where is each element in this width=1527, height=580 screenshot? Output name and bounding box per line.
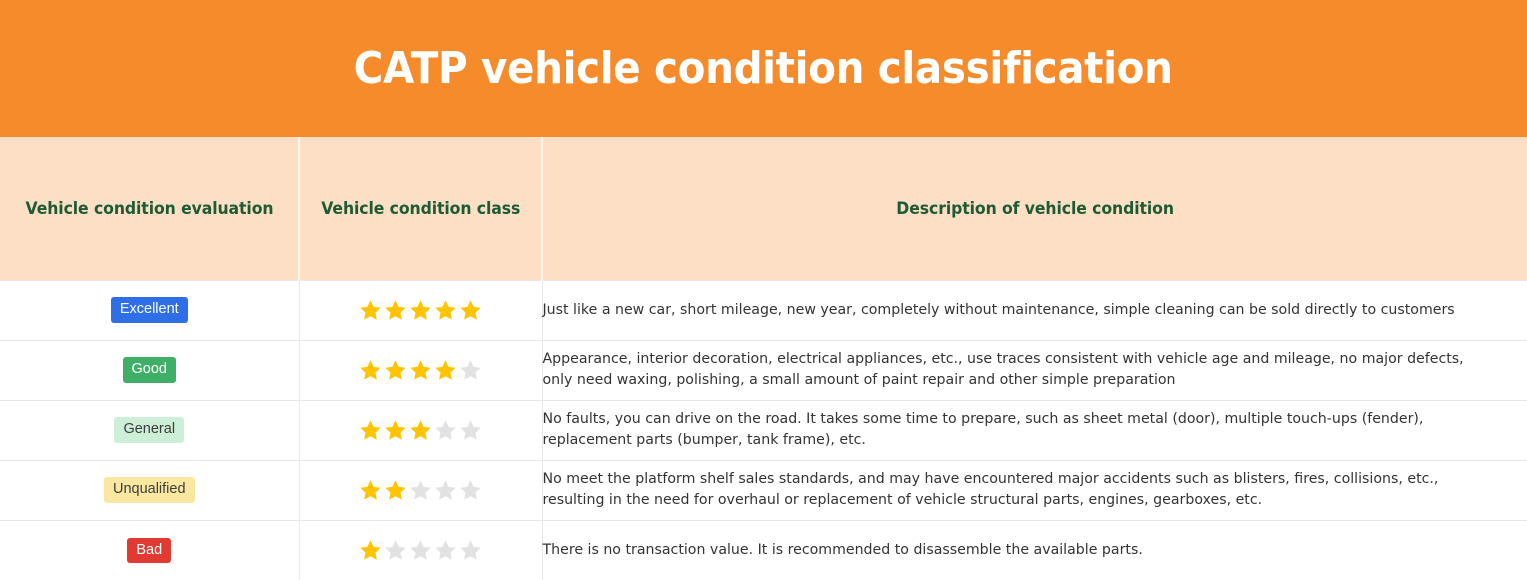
star-rating: [358, 418, 483, 443]
vehicle-condition-table: Vehicle condition evaluation Vehicle con…: [0, 137, 1527, 580]
star-filled-icon: [358, 298, 383, 323]
cell-description: Appearance, interior decoration, electri…: [542, 340, 1497, 400]
cell-condition-class: [299, 460, 542, 520]
star-empty-icon: [408, 478, 433, 503]
star-empty-icon: [433, 478, 458, 503]
star-empty-icon: [458, 358, 483, 383]
star-filled-icon: [433, 298, 458, 323]
star-filled-icon: [408, 418, 433, 443]
status-badge[interactable]: Good: [123, 357, 176, 383]
star-filled-icon: [383, 418, 408, 443]
status-badge[interactable]: Bad: [127, 538, 171, 564]
star-filled-icon: [433, 358, 458, 383]
table-header-row: Vehicle condition evaluation Vehicle con…: [0, 137, 1527, 280]
star-empty-icon: [458, 478, 483, 503]
star-rating: [358, 358, 483, 383]
cell-evaluation: Bad: [0, 520, 299, 580]
column-header-description-label: Description of vehicle condition: [896, 199, 1174, 218]
table-header: Vehicle condition evaluation Vehicle con…: [0, 137, 1527, 280]
status-badge[interactable]: General: [114, 417, 184, 443]
star-empty-icon: [458, 418, 483, 443]
star-rating: [358, 298, 483, 323]
star-empty-icon: [383, 538, 408, 563]
table-row: GeneralNo faults, you can drive on the r…: [0, 400, 1527, 460]
star-empty-icon: [433, 418, 458, 443]
star-rating: [358, 478, 483, 503]
star-filled-icon: [383, 358, 408, 383]
column-header-evaluation: Vehicle condition evaluation: [0, 137, 299, 280]
cell-description: Just like a new car, short mileage, new …: [542, 280, 1497, 340]
cell-evaluation: General: [0, 400, 299, 460]
column-header-class-label: Vehicle condition class: [321, 199, 520, 218]
column-header-description: Description of vehicle condition: [542, 137, 1527, 280]
column-header-class: Vehicle condition class: [299, 137, 542, 280]
star-filled-icon: [408, 358, 433, 383]
table-row: UnqualifiedNo meet the platform shelf sa…: [0, 460, 1527, 520]
column-header-evaluation-label: Vehicle condition evaluation: [25, 199, 273, 218]
table-row: ExcellentJust like a new car, short mile…: [0, 280, 1527, 340]
star-empty-icon: [408, 538, 433, 563]
star-filled-icon: [358, 358, 383, 383]
table-body: ExcellentJust like a new car, short mile…: [0, 280, 1527, 580]
page-title: CATP vehicle condition classification: [354, 47, 1173, 91]
page-root: CATP vehicle condition classification Ve…: [0, 0, 1527, 579]
cell-description: No faults, you can drive on the road. It…: [542, 400, 1497, 460]
star-filled-icon: [383, 478, 408, 503]
title-banner: CATP vehicle condition classification: [0, 0, 1527, 137]
star-filled-icon: [358, 478, 383, 503]
star-empty-icon: [433, 538, 458, 563]
cell-evaluation: Unqualified: [0, 460, 299, 520]
star-filled-icon: [408, 298, 433, 323]
table-row: BadThere is no transaction value. It is …: [0, 520, 1527, 580]
cell-condition-class: [299, 400, 542, 460]
cell-condition-class: [299, 520, 542, 580]
cell-evaluation: Excellent: [0, 280, 299, 340]
star-filled-icon: [358, 538, 383, 563]
star-empty-icon: [458, 538, 483, 563]
star-filled-icon: [383, 298, 408, 323]
cell-condition-class: [299, 340, 542, 400]
cell-evaluation: Good: [0, 340, 299, 400]
cell-description: There is no transaction value. It is rec…: [542, 520, 1497, 580]
star-filled-icon: [358, 418, 383, 443]
status-badge[interactable]: Unqualified: [104, 477, 195, 503]
star-filled-icon: [458, 298, 483, 323]
cell-condition-class: [299, 280, 542, 340]
cell-description: No meet the platform shelf sales standar…: [542, 460, 1497, 520]
star-rating: [358, 538, 483, 563]
table-row: GoodAppearance, interior decoration, ele…: [0, 340, 1527, 400]
status-badge[interactable]: Excellent: [111, 297, 188, 323]
